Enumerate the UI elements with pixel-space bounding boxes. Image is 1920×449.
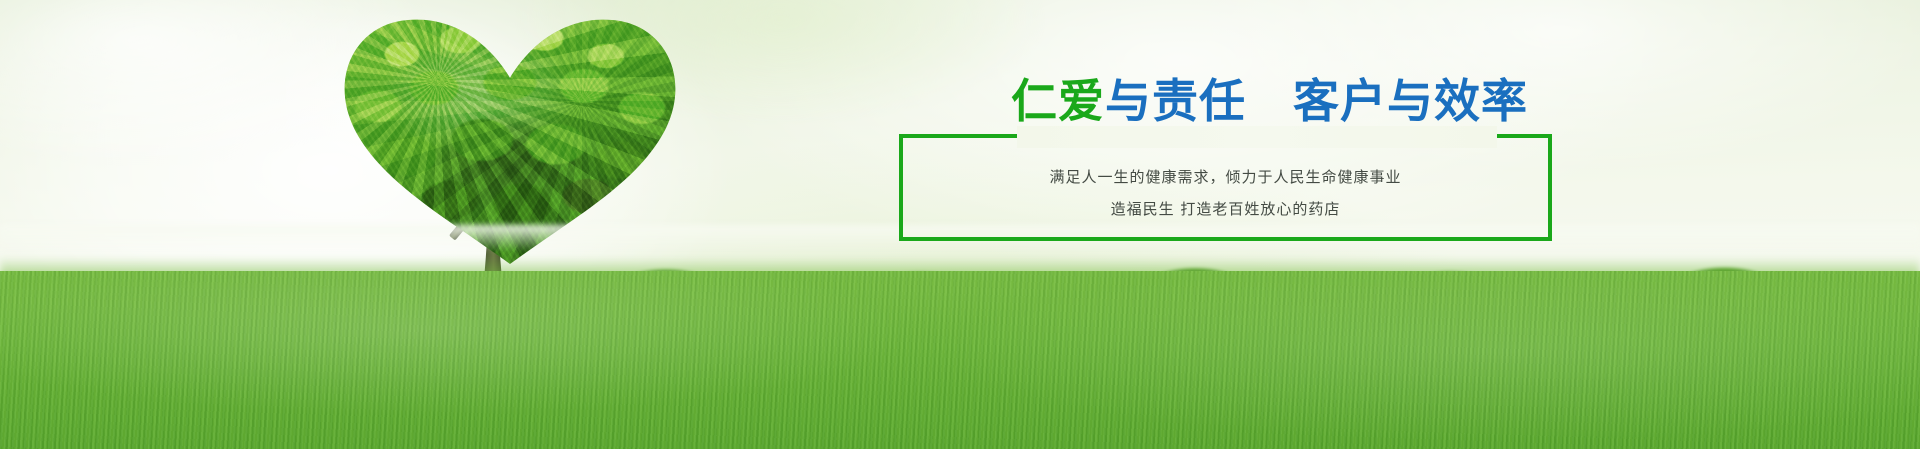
- grass-horizon-blend: [0, 257, 1920, 291]
- slogan-block: 仁爱与责任 客户与效率 满足人一生的健康需求，倾力于人民生命健康事业 造福民生 …: [899, 78, 1556, 246]
- hero-banner: 仁爱与责任 客户与效率 满足人一生的健康需求，倾力于人民生命健康事业 造福民生 …: [0, 0, 1920, 449]
- slogan-headline-blue: 与责任 客户与效率: [1105, 74, 1528, 128]
- slogan-headline: 仁爱与责任 客户与效率: [1011, 78, 1528, 124]
- slogan-frame: [899, 134, 1552, 241]
- slogan-subtitle-line-1: 满足人一生的健康需求，倾力于人民生命健康事业: [899, 166, 1552, 187]
- slogan-headline-green: 仁爱: [1011, 74, 1105, 128]
- slogan-frame-gap: [1017, 126, 1497, 148]
- grass-field: [0, 271, 1920, 449]
- slogan-subtitle-line-2: 造福民生 打造老百姓放心的药店: [899, 198, 1552, 219]
